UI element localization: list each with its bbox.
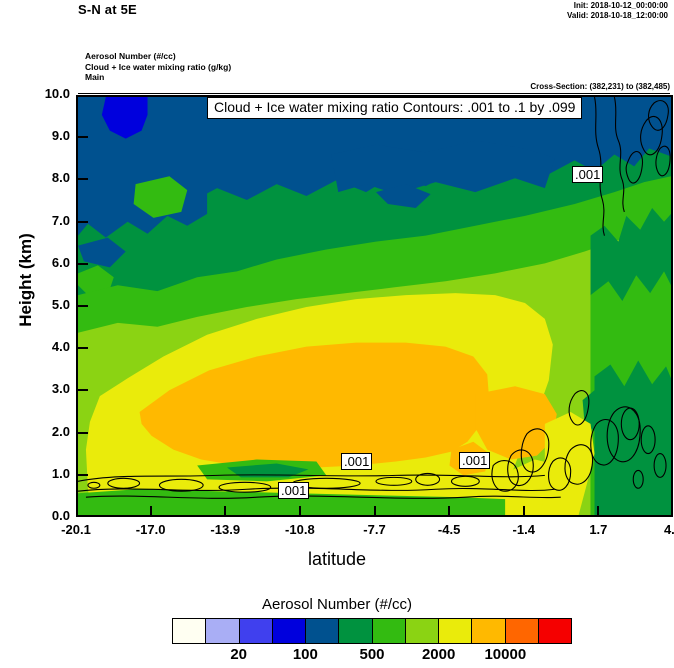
y-axis-tick-label: 2.0	[26, 424, 70, 439]
x-axis-tick-label: -1.4	[494, 522, 554, 537]
y-axis-tick-mark	[78, 136, 88, 138]
colorbar-title: Aerosol Number (#/cc)	[0, 596, 674, 613]
x-axis-tick-mark	[224, 506, 226, 516]
y-axis-tick-mark	[78, 263, 88, 265]
x-axis-tick-label: -4.5	[419, 522, 479, 537]
y-axis-tick-mark	[78, 221, 88, 223]
x-axis-tick-mark	[597, 506, 599, 516]
contour-label: .001	[278, 482, 309, 499]
contour-label: .001	[572, 166, 603, 183]
x-axis-tick-mark	[150, 506, 152, 516]
y-axis-tick-label: 7.0	[26, 213, 70, 228]
colorbar-cell	[206, 619, 239, 643]
model-time-block: Init: 2018-10-12_00:00:00 Valid: 2018-10…	[567, 1, 668, 21]
cross-section-label: Cross-Section: (382,231) to (382,485)	[530, 82, 670, 91]
y-axis-tick-label: 1.0	[26, 466, 70, 481]
colorbar-cell	[472, 619, 505, 643]
colorbar-tick-label: 100	[270, 646, 340, 663]
colorbar-cell	[539, 619, 571, 643]
x-axis-tick-label: 4.8	[643, 522, 674, 537]
variable-description-block: Aerosol Number (#/cc) Cloud + Ice water …	[85, 51, 231, 83]
y-axis-tick-mark	[78, 347, 88, 349]
x-axis-tick-label: -10.8	[270, 522, 330, 537]
x-axis-tick-label: -13.9	[195, 522, 255, 537]
colorbar-cell	[273, 619, 306, 643]
colorbar-tick-labels: 20100500200010000	[172, 646, 572, 666]
x-axis-tick-label: -20.1	[46, 522, 106, 537]
colorbar-cell	[339, 619, 372, 643]
x-axis-tick-mark	[448, 506, 450, 516]
contour-label: .001	[341, 453, 372, 470]
colorbar-tick-label: 20	[204, 646, 274, 663]
y-axis-tick-label: 4.0	[26, 339, 70, 354]
colorbar-cell	[373, 619, 406, 643]
variable-line-3: Main	[85, 72, 231, 83]
x-axis-tick-mark	[523, 506, 525, 516]
colorbar-cell	[240, 619, 273, 643]
colorbar-tick-label: 10000	[470, 646, 540, 663]
aerosol-number-filled-contours	[78, 97, 671, 515]
y-axis-tick-label: 3.0	[26, 381, 70, 396]
y-axis-tick-label: 8.0	[26, 170, 70, 185]
y-axis-tick-label: 5.0	[26, 297, 70, 312]
y-axis-tick-label: 9.0	[26, 128, 70, 143]
contour-title-box: Cloud + Ice water mixing ratio Contours:…	[207, 97, 582, 119]
colorbar-cell	[173, 619, 206, 643]
y-axis-tick-mark	[78, 178, 88, 180]
colorbar-tick-label: 500	[337, 646, 407, 663]
x-axis-tick-label: 1.7	[568, 522, 628, 537]
cross-section-plot	[76, 95, 673, 517]
contour-label: .001	[459, 452, 490, 469]
x-axis-label: latitude	[0, 549, 674, 570]
variable-line-1: Aerosol Number (#/cc)	[85, 51, 231, 62]
page-title: S-N at 5E	[78, 2, 137, 17]
x-axis-tick-mark	[299, 506, 301, 516]
colorbar-cell	[439, 619, 472, 643]
x-axis-tick-label: -17.0	[121, 522, 181, 537]
y-axis-tick-mark	[78, 305, 88, 307]
colorbar-cell	[506, 619, 539, 643]
colorbar-cell	[406, 619, 439, 643]
init-time: Init: 2018-10-12_00:00:00	[567, 1, 668, 11]
valid-time: Valid: 2018-10-18_12:00:00	[567, 11, 668, 21]
colorbar	[172, 618, 572, 644]
y-axis-tick-label: 10.0	[26, 86, 70, 101]
colorbar-tick-label: 2000	[404, 646, 474, 663]
x-axis-tick-mark	[374, 506, 376, 516]
x-axis-tick-label: -7.7	[345, 522, 405, 537]
y-axis-label: Height (km)	[16, 230, 36, 330]
variable-line-2: Cloud + Ice water mixing ratio (g/kg)	[85, 62, 231, 73]
y-axis-tick-mark	[78, 432, 88, 434]
y-axis-tick-mark	[78, 389, 88, 391]
y-axis-tick-label: 6.0	[26, 255, 70, 270]
header-divider	[78, 93, 670, 94]
y-axis-tick-mark	[78, 474, 88, 476]
y-axis-tick-label: 0.0	[26, 508, 70, 523]
colorbar-cell	[306, 619, 339, 643]
